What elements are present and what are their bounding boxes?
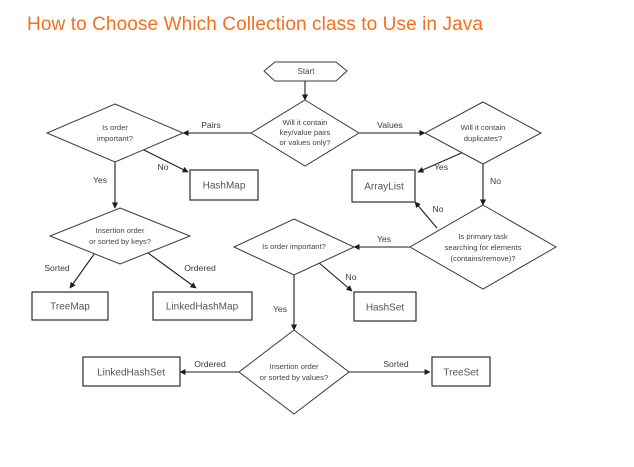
linkedhashmap-label: LinkedHashMap — [166, 302, 239, 313]
edge-label-task-yes: Yes — [377, 234, 391, 244]
start-label: Start — [298, 67, 316, 76]
node-decision-keyvalue[interactable]: Will it contain key/value pairs or value… — [251, 100, 359, 166]
insertion-keys-line2: or sorted by keys? — [89, 237, 151, 246]
node-decision-insertion-keys[interactable]: Insertion order or sorted by keys? — [50, 208, 190, 264]
primary-task-line1: Is primary task — [458, 232, 508, 241]
hashset-label: HashSet — [366, 303, 405, 314]
node-start[interactable]: Start — [264, 62, 347, 81]
treemap-label: TreeMap — [50, 302, 90, 313]
edge-label-dup-yes: Yes — [434, 162, 448, 172]
node-decision-insertion-values[interactable]: Insertion order or sorted by values? — [239, 330, 349, 414]
duplicates-diamond — [425, 102, 541, 164]
edge-label-pairs: Pairs — [201, 120, 221, 130]
edge-label-map-yes: Yes — [93, 175, 107, 185]
keyvalue-line1: Will it contain — [283, 118, 328, 127]
linkedhashset-label: LinkedHashSet — [97, 368, 165, 379]
duplicates-line1: Will it contain — [461, 123, 506, 132]
insertion-values-diamond — [239, 330, 349, 414]
duplicates-line2: duplicates? — [464, 134, 502, 143]
order-set-line1: Is order important? — [262, 242, 326, 251]
node-decision-order-map[interactable]: Is order important? — [47, 104, 183, 162]
edge-label-sorted-keys: Sorted — [44, 263, 70, 273]
edge-label-map-no: No — [158, 162, 169, 172]
order-map-line1: Is order — [102, 123, 128, 132]
insertion-values-line1: Insertion order — [270, 362, 319, 371]
node-result-arraylist[interactable]: ArrayList — [352, 170, 415, 202]
node-result-hashmap[interactable]: HashMap — [190, 170, 258, 200]
node-result-treeset[interactable]: TreeSet — [432, 357, 490, 386]
insertion-keys-diamond — [50, 208, 190, 264]
keyvalue-line2: key/value pairs — [280, 128, 331, 137]
primary-task-line2: searching for elements — [445, 243, 522, 252]
edge-sorted-keys — [70, 250, 97, 288]
node-result-treemap[interactable]: TreeMap — [32, 292, 108, 320]
arraylist-label: ArrayList — [364, 182, 404, 193]
treeset-label: TreeSet — [443, 368, 478, 379]
node-result-hashset[interactable]: HashSet — [354, 292, 416, 321]
node-decision-duplicates[interactable]: Will it contain duplicates? — [425, 102, 541, 164]
order-map-line2: important? — [97, 134, 133, 143]
insertion-values-line2: or sorted by values? — [260, 373, 328, 382]
node-result-linkedhashmap[interactable]: LinkedHashMap — [153, 292, 252, 320]
flowchart-diagram: Pairs Values No Yes Sorted Ordered Yes N… — [0, 0, 634, 467]
edge-label-ordered-values: Ordered — [194, 359, 226, 369]
hashmap-label: HashMap — [203, 181, 246, 192]
insertion-keys-line1: Insertion order — [96, 226, 145, 235]
primary-task-line3: (contains/remove)? — [451, 254, 516, 263]
edge-label-values: Values — [377, 120, 403, 130]
edge-label-set-no: No — [346, 272, 357, 282]
node-result-linkedhashset[interactable]: LinkedHashSet — [83, 357, 180, 386]
order-map-diamond — [47, 104, 183, 162]
keyvalue-line3: or values only? — [279, 138, 330, 147]
node-decision-primary-task[interactable]: Is primary task searching for elements (… — [410, 205, 556, 289]
node-decision-order-set[interactable]: Is order important? — [234, 219, 354, 275]
edge-label-task-no: No — [433, 204, 444, 214]
edge-label-sorted-values: Sorted — [383, 359, 409, 369]
edge-label-ordered-keys: Ordered — [184, 263, 216, 273]
edge-label-set-yes: Yes — [273, 304, 287, 314]
edge-label-dup-no: No — [490, 176, 501, 186]
